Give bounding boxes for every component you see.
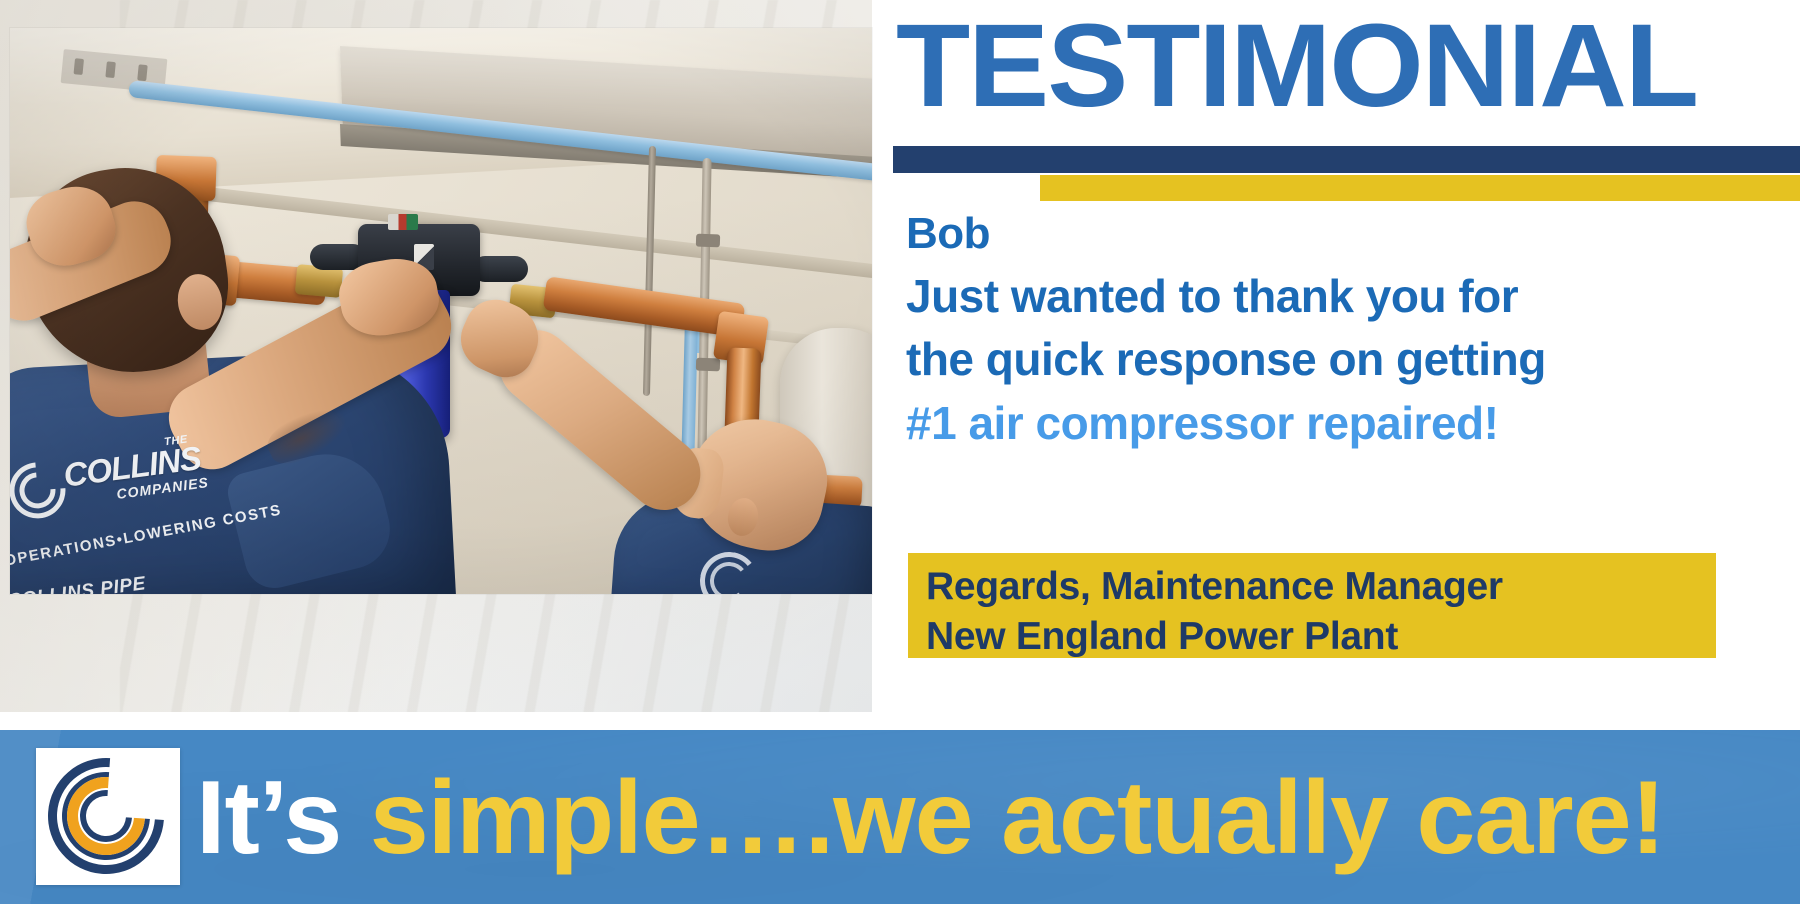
signature-line-2: New England Power Plant (926, 612, 1716, 662)
slogan-text-white: It’s (196, 760, 370, 876)
navy-rule (893, 146, 1800, 173)
page-title: TESTIMONIAL (896, 4, 1697, 129)
signature-block: Regards, Maintenance Manager New England… (908, 553, 1716, 658)
slogan-banner: It’s simple….we actually care! (0, 730, 1800, 904)
testimonial-poster: IN THE COLLINS COMPANIES OPERATIONS•LOWE… (0, 0, 1800, 904)
photo-filter-outlet-neck (472, 256, 528, 282)
testimonial-line-1: Just wanted to thank you for (906, 265, 1786, 328)
collins-logo (36, 748, 180, 885)
signature-line-1: Regards, Maintenance Manager (926, 562, 1716, 612)
photo-pipe-clamp (696, 234, 720, 248)
technicians-photo: IN THE COLLINS COMPANIES OPERATIONS•LOWE… (10, 28, 872, 594)
testimonial-body: Bob Just wanted to thank you for the qui… (906, 204, 1786, 455)
gold-rule (1040, 175, 1800, 201)
testimonial-line-3: #1 air compressor repaired! (906, 392, 1786, 455)
photo-shirt-sub1: COLLINS PIPE (10, 573, 147, 594)
testimonial-line-2: the quick response on getting (906, 328, 1786, 391)
slogan-text: It’s simple….we actually care! (196, 754, 1665, 882)
testimonial-salutation: Bob (906, 204, 1786, 265)
slogan-text-gold: simple….we actually care! (370, 760, 1665, 876)
photo-filter-indicator (388, 214, 418, 230)
photo-pipe-clamp (696, 358, 720, 372)
content-card-strip (0, 712, 1800, 730)
